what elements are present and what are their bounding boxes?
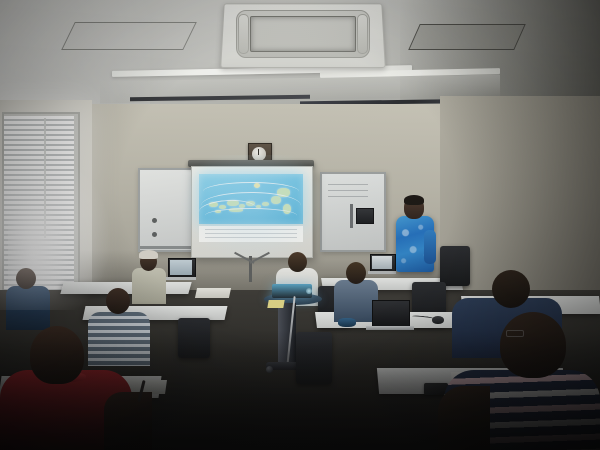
slide-caption-text (205, 229, 297, 239)
attendee-light-shirt (132, 268, 166, 304)
clock-hands (258, 149, 259, 155)
classroom-photo (0, 0, 600, 450)
laptop-screen (372, 256, 392, 269)
air-conditioner-vane (357, 14, 368, 54)
slide-map (199, 174, 303, 224)
wall-device-icon[interactable] (356, 208, 374, 224)
sticky-note (267, 300, 284, 308)
laptop-screen (170, 260, 192, 275)
whiteboard-fixing-icon (152, 232, 157, 237)
headset-icon[interactable] (338, 318, 356, 327)
attendee-head (288, 252, 307, 272)
attendee-hair (139, 250, 158, 259)
laptop-keyboard[interactable] (166, 277, 196, 280)
papers (195, 288, 231, 298)
presenter-hair (404, 195, 424, 205)
whiteboard-edge-strip (350, 204, 353, 228)
laptop-keyboard[interactable] (368, 271, 396, 274)
chair[interactable] (440, 246, 470, 286)
clock-face (252, 147, 266, 161)
computer-mouse-icon[interactable] (432, 316, 444, 324)
whiteboard-writing (328, 184, 368, 202)
ceiling-access-panel-icon (408, 24, 526, 50)
projector-lens-icon (306, 288, 312, 294)
attendee-head (346, 262, 366, 284)
whiteboard-fixing-icon (152, 218, 157, 223)
window-glare (0, 150, 110, 310)
attendee-head (492, 270, 530, 308)
air-conditioner-grille (250, 16, 356, 52)
floor-shadow (0, 330, 600, 450)
whiteboard-marker-tray (140, 246, 198, 249)
laptop-icon[interactable] (372, 300, 410, 328)
air-conditioner-vane (238, 14, 249, 54)
presenter-arm (424, 230, 436, 264)
ceiling-access-panel-icon (61, 22, 197, 50)
